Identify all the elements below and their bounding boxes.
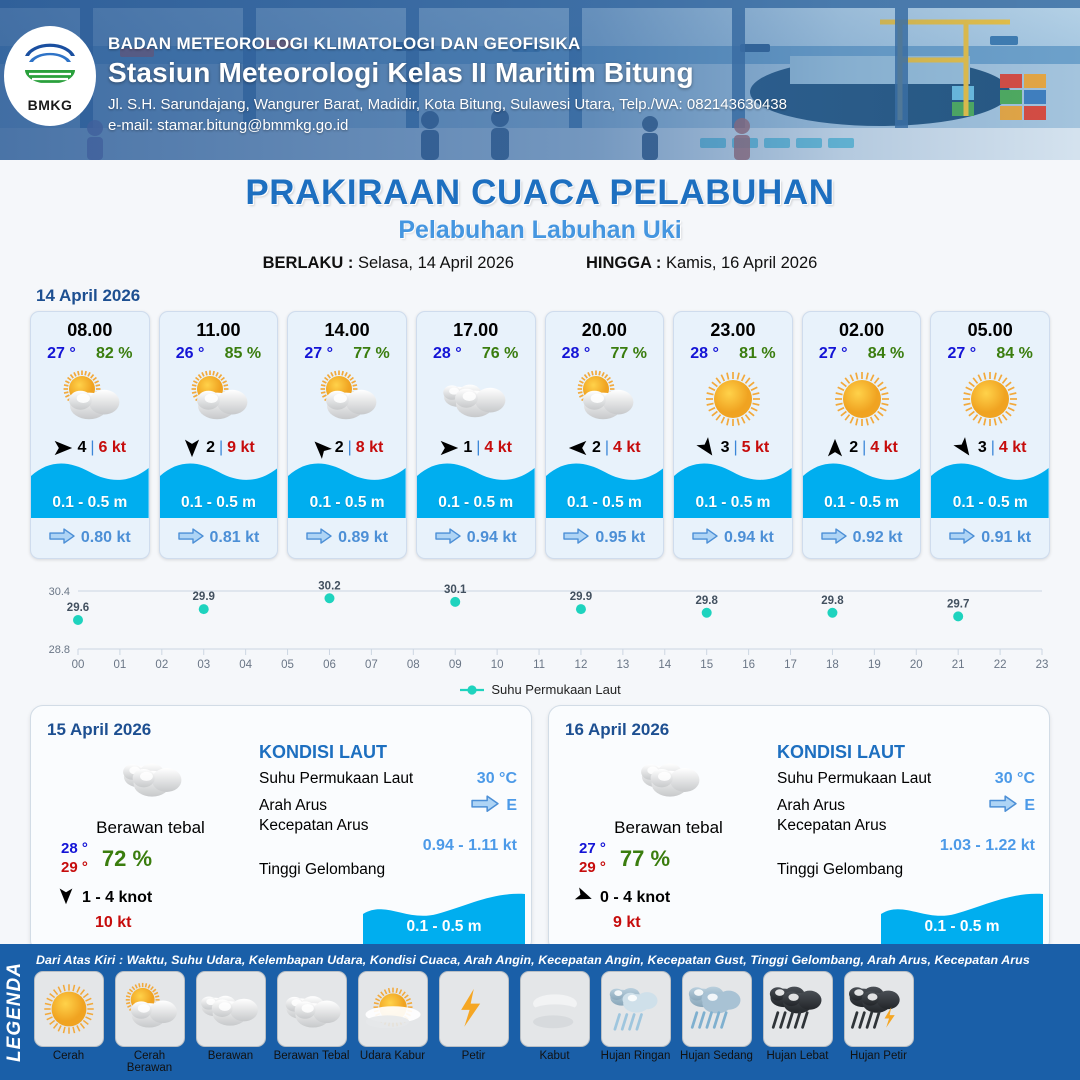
card-time: 02.00 [803, 320, 921, 341]
card-temp-hum-row: 27 ° 84 % [803, 345, 921, 363]
legend-item: Cerah Berawan [111, 971, 188, 1074]
svg-text:22: 22 [994, 659, 1007, 671]
card-temperature: 27 ° [948, 345, 977, 363]
legend-item: Hujan Petir [840, 971, 917, 1074]
gust-value: 9 kt [227, 439, 255, 457]
card-wind-row: 2 | 9 kt [160, 438, 278, 458]
card-time: 08.00 [31, 320, 149, 341]
wave-height-label: Tinggi Gelombang [777, 861, 1035, 879]
wind-separator: | [862, 439, 866, 457]
svg-text:29.6: 29.6 [67, 602, 89, 614]
legend-item-label: Cerah Berawan [111, 1050, 188, 1074]
current-direction-arrow-icon [306, 528, 332, 549]
daily-temp-row: 28 ° 29 ° 72 % [53, 840, 248, 878]
daily-date: 16 April 2026 [565, 720, 1033, 740]
sst-value: 30 °C [995, 770, 1035, 788]
svg-text:04: 04 [239, 659, 252, 671]
legend-item: Cerah [30, 971, 107, 1074]
card-temperature: 28 ° [562, 345, 591, 363]
daily-temp-max: 29 ° [579, 859, 606, 878]
current-direction-value: E [1024, 797, 1035, 815]
wind-direction-arrow-icon [825, 438, 845, 458]
sea-condition-block: KONDISI LAUT Suhu Permukaan Laut 30 °C A… [259, 742, 517, 879]
card-temperature: 27 ° [47, 345, 76, 363]
valid-until: HINGGA : Kamis, 16 April 2026 [586, 254, 817, 273]
legend-bar: LEGENDA Dari Atas Kiri : Waktu, Suhu Uda… [0, 944, 1080, 1080]
daily-forecast-card[interactable]: 15 April 2026 Berawan tebal 28 ° [30, 705, 532, 953]
legend-item-label: Berawan Tebal [274, 1050, 350, 1062]
page-subtitle: Pelabuhan Labuhan Uki [0, 216, 1080, 245]
chart-legend-label: Suhu Permukaan Laut [491, 682, 620, 697]
current-speed-value: 0.94 kt [724, 529, 774, 547]
weather-hujan-lebat-icon [763, 971, 833, 1047]
card-current-row: 0.94 kt [417, 528, 535, 549]
legend-item: Berawan [192, 971, 269, 1074]
wind-direction-arrow-icon [57, 887, 75, 910]
current-speed-value: 0.94 - 1.11 kt [259, 837, 517, 855]
card-time: 11.00 [160, 320, 278, 341]
wind-separator: | [219, 439, 223, 457]
hourly-card[interactable]: 11.00 26 ° 85 % 2 | 9 kt [159, 311, 279, 559]
card-time: 17.00 [417, 320, 535, 341]
card-current-row: 0.94 kt [674, 528, 792, 549]
card-current-row: 0.80 kt [31, 528, 149, 549]
svg-text:15: 15 [700, 659, 713, 671]
sst-row: Suhu Permukaan Laut 30 °C [259, 770, 517, 788]
wind-direction-arrow-icon [697, 438, 717, 458]
wind-speed-value: 2 [335, 439, 344, 457]
current-speed-label: Kecepatan Arus [259, 817, 517, 835]
card-temp-hum-row: 28 ° 81 % [674, 345, 792, 363]
wind-speed-value: 2 [592, 439, 601, 457]
weather-cerah-icon [34, 971, 104, 1047]
wind-separator: | [734, 439, 738, 457]
wind-speed-value: 2 [206, 439, 215, 457]
wind-separator: | [476, 439, 480, 457]
legend-item-label: Hujan Lebat [766, 1050, 828, 1062]
card-temperature: 26 ° [176, 345, 205, 363]
card-humidity: 84 % [868, 345, 904, 363]
card-humidity: 77 % [611, 345, 647, 363]
current-direction-row: Arah Arus E [777, 795, 1035, 817]
svg-text:28.8: 28.8 [49, 644, 70, 656]
card-humidity: 85 % [225, 345, 261, 363]
svg-text:20: 20 [910, 659, 923, 671]
card-temperature: 28 ° [690, 345, 719, 363]
sst-label: Suhu Permukaan Laut [777, 770, 931, 788]
wind-separator: | [991, 439, 995, 457]
svg-text:09: 09 [449, 659, 462, 671]
weather-udara-kabur-icon [358, 971, 428, 1047]
card-time: 23.00 [674, 320, 792, 341]
current-speed-value: 0.94 kt [467, 529, 517, 547]
card-temp-hum-row: 26 ° 85 % [160, 345, 278, 363]
card-temperature: 27 ° [819, 345, 848, 363]
card-wind-row: 2 | 4 kt [803, 438, 921, 458]
current-speed-label: Kecepatan Arus [777, 817, 1035, 835]
legend-item: Petir [435, 971, 512, 1074]
legend-item-label: Petir [462, 1050, 486, 1062]
page-title: PRAKIRAAN CUACA PELABUHAN [0, 173, 1080, 213]
legend-item-label: Hujan Ringan [601, 1050, 671, 1062]
current-direction-arrow-icon [178, 528, 204, 549]
chart-legend: Suhu Permukaan Laut [0, 682, 1080, 697]
svg-text:00: 00 [72, 659, 85, 671]
sea-condition-heading: KONDISI LAUT [259, 742, 517, 763]
weather-berawan-tebal-icon [277, 971, 347, 1047]
svg-text:16: 16 [742, 659, 755, 671]
daily-wave-graphic: 0.1 - 0.5 m [363, 892, 525, 948]
legend-item: Hujan Sedang [678, 971, 755, 1074]
daily-forecast-row: 15 April 2026 Berawan tebal 28 ° [0, 697, 1080, 953]
wind-speed-value: 3 [721, 439, 730, 457]
wave-height-row: Tinggi Gelombang [777, 861, 1035, 879]
chart-legend-marker [459, 684, 485, 696]
gust-value: 8 kt [356, 439, 384, 457]
weather-berawan-tebal-icon [571, 746, 766, 808]
gust-value: 6 kt [99, 439, 127, 457]
hourly-card[interactable]: 14.00 27 ° 77 % 2 | 8 kt [287, 311, 407, 559]
svg-text:07: 07 [365, 659, 378, 671]
weather-berawan-icon [196, 971, 266, 1047]
bmkg-logo-mark [19, 40, 81, 96]
hourly-card[interactable]: 17.00 28 ° 76 % 1 | [416, 311, 536, 559]
wind-direction-arrow-icon [439, 438, 459, 458]
svg-text:10: 10 [491, 659, 504, 671]
weather-hujan-sedang-icon [682, 971, 752, 1047]
daily-wind-row: 1 - 4 knot [53, 887, 248, 910]
daily-gust: 9 kt [571, 914, 766, 932]
wind-speed-value: 1 [463, 439, 472, 457]
weather-cerah-icon [674, 367, 792, 431]
card-temperature: 27 ° [304, 345, 333, 363]
legend-item-label: Berawan [208, 1050, 253, 1062]
current-direction-arrow-icon [692, 528, 718, 549]
card-wind-row: 1 | 4 kt [417, 438, 535, 458]
daily-left-column: Berawan tebal 27 ° 29 ° 77 % 0 - 4 knot … [571, 746, 766, 932]
current-speed-value: 0.95 kt [595, 529, 645, 547]
wind-separator: | [90, 439, 94, 457]
gust-value: 5 kt [742, 439, 770, 457]
daily-temp-row: 27 ° 29 ° 77 % [571, 840, 766, 878]
station-email: e-mail: stamar.bitung@bmmkg.go.id [108, 117, 787, 134]
wind-direction-arrow-icon [182, 438, 202, 458]
card-current-row: 0.92 kt [803, 528, 921, 549]
hourly-card[interactable]: 05.00 27 ° 84 % 3 | 4 kt 0.1 - 0.5 m [930, 311, 1050, 559]
current-direction-arrow-icon [949, 528, 975, 549]
svg-text:11: 11 [533, 659, 545, 671]
legend-item-label: Udara Kabur [360, 1050, 425, 1062]
card-wind-row: 4 | 6 kt [31, 438, 149, 458]
wave-height-value: 0.1 - 0.5 m [31, 494, 149, 512]
current-speed-value: 0.92 kt [853, 529, 903, 547]
sst-row: Suhu Permukaan Laut 30 °C [777, 770, 1035, 788]
weather-hujan-ringan-icon [601, 971, 671, 1047]
svg-text:30.2: 30.2 [318, 580, 340, 592]
wave-height-row: Tinggi Gelombang [259, 861, 517, 879]
svg-text:01: 01 [114, 659, 127, 671]
daily-temp-range: 27 ° 29 ° [579, 840, 606, 878]
card-time: 14.00 [288, 320, 406, 341]
legend-item-label: Hujan Petir [850, 1050, 907, 1062]
header-text-block: BADAN METEOROLOGI KLIMATOLOGI DAN GEOFIS… [108, 34, 787, 134]
weather-hujan-petir-icon [844, 971, 914, 1047]
current-direction-arrow-icon [49, 528, 75, 549]
card-wind-row: 3 | 4 kt [931, 438, 1049, 458]
weather-cerah-berawan-icon [288, 367, 406, 431]
weather-berawan-tebal-icon [53, 746, 248, 808]
card-humidity: 81 % [739, 345, 775, 363]
sst-label: Suhu Permukaan Laut [259, 770, 413, 788]
card-temp-hum-row: 27 ° 84 % [931, 345, 1049, 363]
gust-value: 4 kt [613, 439, 641, 457]
current-direction-arrow-icon [563, 528, 589, 549]
daily-temp-max: 29 ° [61, 859, 88, 878]
svg-text:17: 17 [784, 659, 797, 671]
current-speed-value: 0.91 kt [981, 529, 1031, 547]
daily-temp-min: 27 ° [579, 840, 606, 859]
weather-cerah-icon [931, 367, 1049, 431]
daily-date: 15 April 2026 [47, 720, 515, 740]
legend-side-tab: LEGENDA [0, 944, 30, 1080]
wind-direction-arrow-icon [575, 887, 593, 910]
card-temperature: 28 ° [433, 345, 462, 363]
svg-text:08: 08 [407, 659, 420, 671]
weather-cerah-icon [803, 367, 921, 431]
legend-item-label: Hujan Sedang [680, 1050, 753, 1062]
svg-text:29.9: 29.9 [570, 591, 592, 603]
card-current-row: 0.95 kt [546, 528, 664, 549]
weather-cerah-berawan-icon [115, 971, 185, 1047]
current-direction-label: Arah Arus [777, 797, 845, 815]
daily-temp-range: 28 ° 29 ° [61, 840, 88, 878]
bmkg-logo-text: BMKG [28, 97, 73, 113]
card-temp-hum-row: 27 ° 77 % [288, 345, 406, 363]
legend-item: Hujan Ringan [597, 971, 674, 1074]
svg-text:12: 12 [575, 659, 588, 671]
current-direction-row: Arah Arus E [259, 795, 517, 817]
daily-gust: 10 kt [53, 914, 248, 932]
daily-forecast-card[interactable]: 16 April 2026 Berawan tebal 27 ° [548, 705, 1050, 953]
svg-text:30.4: 30.4 [49, 586, 70, 598]
current-speed-value: 0.89 kt [338, 529, 388, 547]
wind-separator: | [605, 439, 609, 457]
hourly-card[interactable]: 20.00 28 ° 77 % 2 | 4 kt [545, 311, 665, 559]
wind-direction-arrow-icon [568, 438, 588, 458]
svg-text:05: 05 [281, 659, 294, 671]
current-direction-arrow-icon [989, 795, 1017, 817]
card-humidity: 82 % [96, 345, 132, 363]
svg-text:29.8: 29.8 [696, 595, 719, 607]
sst-value: 30 °C [477, 770, 517, 788]
wind-direction-arrow-icon [954, 438, 974, 458]
gust-value: 4 kt [999, 439, 1027, 457]
current-direction-value-group: E [989, 795, 1035, 817]
card-humidity: 84 % [996, 345, 1032, 363]
hourly-card[interactable]: 08.00 27 ° 82 % 4 | 6 kt [30, 311, 150, 559]
current-direction-arrow-icon [821, 528, 847, 549]
current-speed-value: 0.80 kt [81, 529, 131, 547]
current-speed-row: Kecepatan Arus 0.94 - 1.11 kt [259, 817, 517, 855]
gust-value: 4 kt [870, 439, 898, 457]
daily-wind-range: 1 - 4 knot [82, 889, 152, 907]
current-speed-value: 0.81 kt [210, 529, 260, 547]
daily-condition: Berawan tebal [53, 818, 248, 838]
svg-text:21: 21 [952, 659, 965, 671]
daily-wave-value: 0.1 - 0.5 m [881, 918, 1043, 936]
daily-wave-graphic: 0.1 - 0.5 m [881, 892, 1043, 948]
daily-wind-row: 0 - 4 knot [571, 887, 766, 910]
sea-condition-block: KONDISI LAUT Suhu Permukaan Laut 30 °C A… [777, 742, 1035, 879]
valid-from-label: BERLAKU : [263, 254, 354, 272]
wind-speed-value: 3 [978, 439, 987, 457]
card-current-row: 0.89 kt [288, 528, 406, 549]
valid-from-value: Selasa, 14 April 2026 [358, 254, 514, 272]
daily-humidity: 72 % [102, 846, 152, 872]
current-direction-label: Arah Arus [259, 797, 327, 815]
card-humidity: 77 % [353, 345, 389, 363]
svg-text:14: 14 [658, 659, 671, 671]
legend-item-label: Cerah [53, 1050, 84, 1062]
current-direction-value: E [506, 797, 517, 815]
gust-value: 4 kt [484, 439, 512, 457]
hourly-card[interactable]: 02.00 27 ° 84 % 2 | 4 kt 0.1 - 0.5 m [802, 311, 922, 559]
daily-wind-range: 0 - 4 knot [600, 889, 670, 907]
hourly-card[interactable]: 23.00 28 ° 81 % 3 | 5 kt 0.1 - 0.5 m [673, 311, 793, 559]
legend-side-label: LEGENDA [4, 962, 26, 1062]
valid-until-label: HINGGA : [586, 254, 661, 272]
weather-kabut-icon [520, 971, 590, 1047]
legend-item: Kabut [516, 971, 593, 1074]
wind-direction-arrow-icon [311, 438, 331, 458]
valid-until-value: Kamis, 16 April 2026 [666, 254, 817, 272]
wind-direction-arrow-icon [53, 438, 73, 458]
legend-icon-list: Cerah Cerah Berawan [30, 971, 1074, 1074]
wind-separator: | [348, 439, 352, 457]
hourly-forecast-row: 08.00 27 ° 82 % 4 | 6 kt [0, 311, 1080, 559]
svg-text:18: 18 [826, 659, 839, 671]
card-current-row: 0.91 kt [931, 528, 1049, 549]
svg-text:30.1: 30.1 [444, 584, 467, 596]
legend-item: Hujan Lebat [759, 971, 836, 1074]
current-speed-value: 1.03 - 1.22 kt [777, 837, 1035, 855]
svg-text:03: 03 [197, 659, 210, 671]
wave-height-value: 0.1 - 0.5 m [674, 494, 792, 512]
agency-name: BADAN METEOROLOGI KLIMATOLOGI DAN GEOFIS… [108, 34, 787, 54]
card-temp-hum-row: 27 ° 82 % [31, 345, 149, 363]
page-header: BMKG BADAN METEOROLOGI KLIMATOLOGI DAN G… [0, 0, 1080, 160]
current-direction-arrow-icon [435, 528, 461, 549]
svg-text:02: 02 [155, 659, 168, 671]
station-address: Jl. S.H. Sarundajang, Wangurer Barat, Ma… [108, 96, 787, 113]
current-direction-arrow-icon [471, 795, 499, 817]
wave-height-value: 0.1 - 0.5 m [417, 494, 535, 512]
weather-cerah-berawan-icon [31, 367, 149, 431]
wave-height-value: 0.1 - 0.5 m [288, 494, 406, 512]
legend-item: Udara Kabur [354, 971, 431, 1074]
hourly-day-label: 14 April 2026 [36, 286, 1080, 306]
weather-cerah-berawan-icon [546, 367, 664, 431]
svg-text:29.8: 29.8 [821, 595, 844, 607]
wave-height-value: 0.1 - 0.5 m [546, 494, 664, 512]
card-humidity: 76 % [482, 345, 518, 363]
svg-text:06: 06 [323, 659, 336, 671]
wave-height-value: 0.1 - 0.5 m [803, 494, 921, 512]
bmkg-logo: BMKG [4, 26, 96, 126]
wave-height-label: Tinggi Gelombang [259, 861, 517, 879]
legend-item: Berawan Tebal [273, 971, 350, 1074]
weather-cerah-berawan-icon [160, 367, 278, 431]
weather-petir-icon [439, 971, 509, 1047]
card-wind-row: 3 | 5 kt [674, 438, 792, 458]
wave-height-value: 0.1 - 0.5 m [160, 494, 278, 512]
wave-height-value: 0.1 - 0.5 m [931, 494, 1049, 512]
card-current-row: 0.81 kt [160, 528, 278, 549]
card-time: 05.00 [931, 320, 1049, 341]
card-temp-hum-row: 28 ° 77 % [546, 345, 664, 363]
svg-text:19: 19 [868, 659, 881, 671]
legend-item-label: Kabut [539, 1050, 569, 1062]
sst-chart: 30.428.800010203040506070809101112131415… [26, 573, 1054, 678]
svg-text:13: 13 [616, 659, 629, 671]
current-direction-value-group: E [471, 795, 517, 817]
card-temp-hum-row: 28 ° 76 % [417, 345, 535, 363]
daily-humidity: 77 % [620, 846, 670, 872]
sea-condition-heading: KONDISI LAUT [777, 742, 1035, 763]
current-speed-row: Kecepatan Arus 1.03 - 1.22 kt [777, 817, 1035, 855]
card-wind-row: 2 | 4 kt [546, 438, 664, 458]
svg-text:29.7: 29.7 [947, 598, 969, 610]
legend-note: Dari Atas Kiri : Waktu, Suhu Udara, Kele… [30, 948, 1074, 971]
daily-condition: Berawan tebal [571, 818, 766, 838]
wind-speed-value: 2 [849, 439, 858, 457]
svg-text:23: 23 [1036, 659, 1049, 671]
card-time: 20.00 [546, 320, 664, 341]
daily-left-column: Berawan tebal 28 ° 29 ° 72 % 1 - 4 knot … [53, 746, 248, 932]
validity-row: BERLAKU : Selasa, 14 April 2026 HINGGA :… [0, 254, 1080, 273]
daily-wave-value: 0.1 - 0.5 m [363, 918, 525, 936]
valid-from: BERLAKU : Selasa, 14 April 2026 [263, 254, 514, 273]
svg-text:29.9: 29.9 [193, 591, 215, 603]
station-name: Stasiun Meteorologi Kelas II Maritim Bit… [108, 57, 787, 89]
daily-temp-min: 28 ° [61, 840, 88, 859]
card-wind-row: 2 | 8 kt [288, 438, 406, 458]
weather-berawan-icon [417, 367, 535, 431]
wind-speed-value: 4 [77, 439, 86, 457]
legend-body: Dari Atas Kiri : Waktu, Suhu Udara, Kele… [30, 944, 1080, 1080]
